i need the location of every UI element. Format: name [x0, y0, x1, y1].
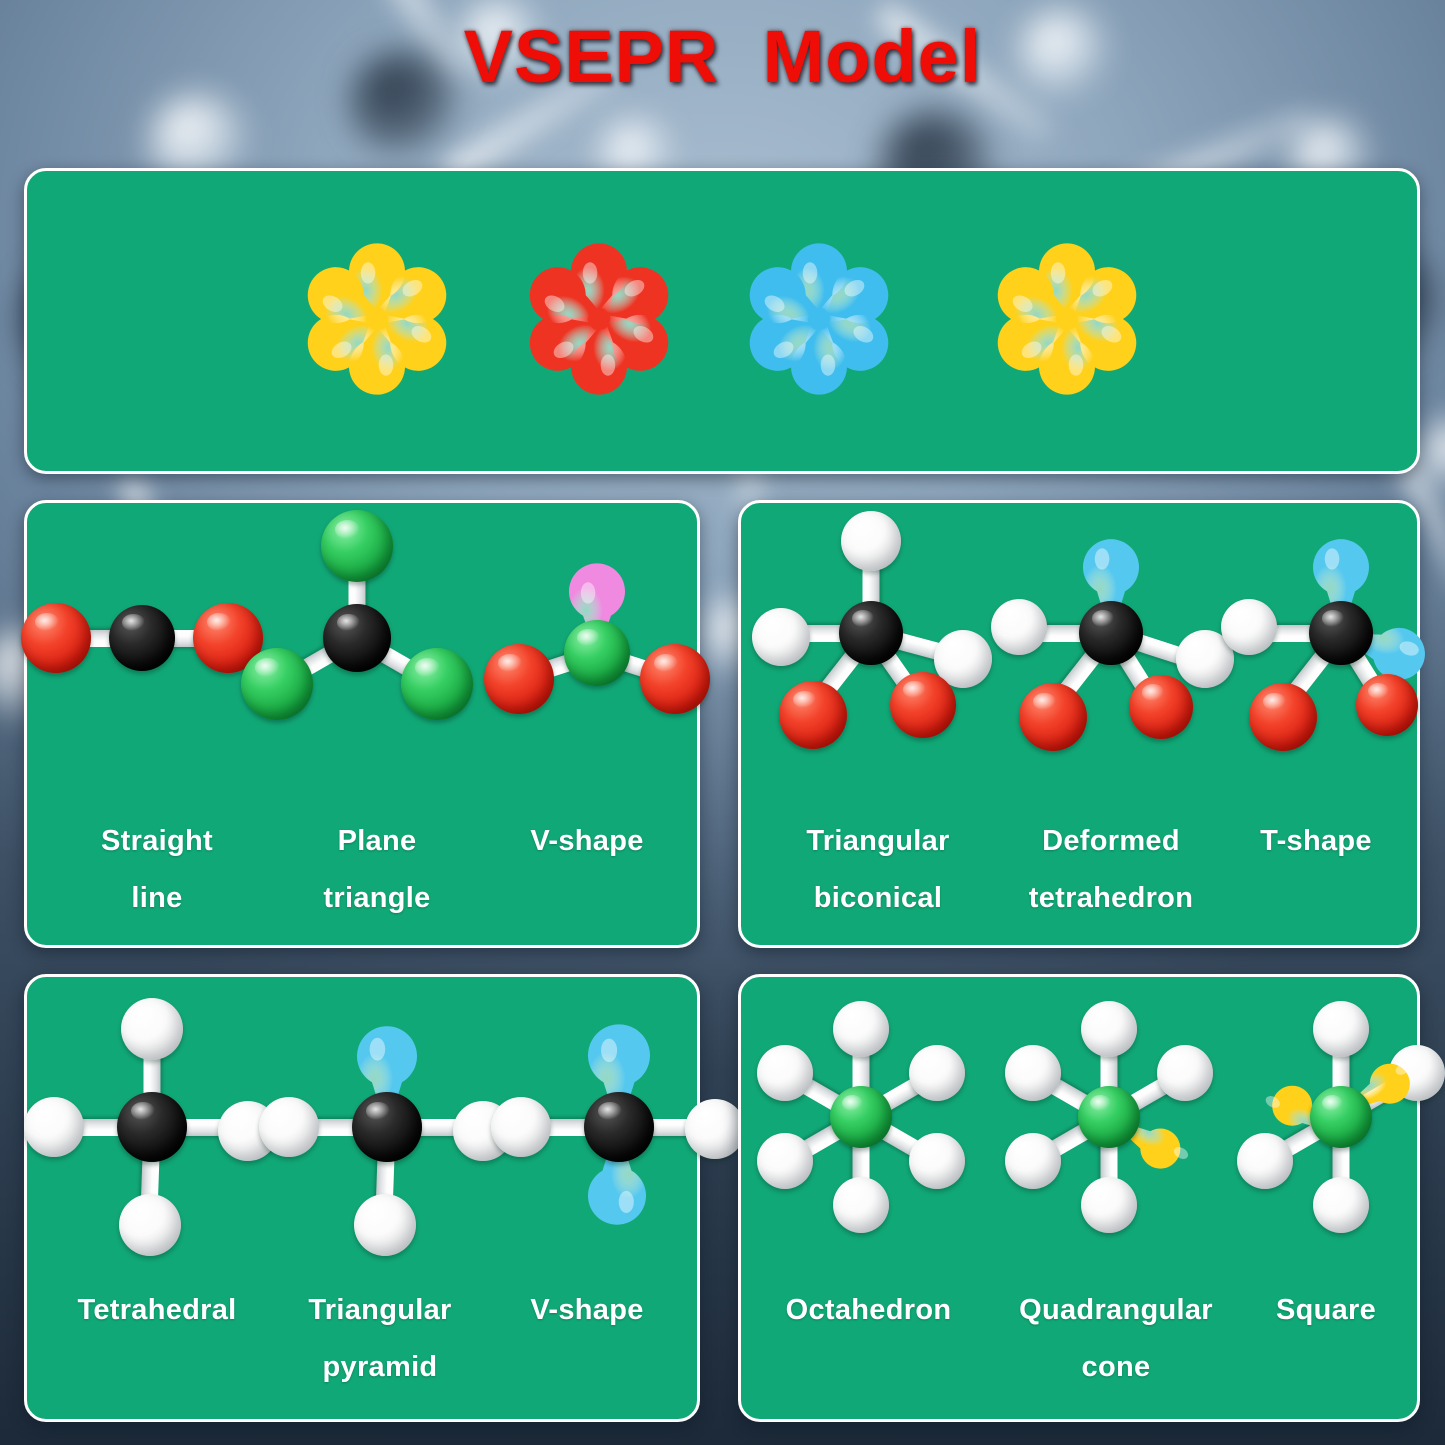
caption-line-2: biconical	[753, 870, 1003, 927]
atom-red	[640, 644, 710, 714]
caption-square: Square	[1241, 1282, 1411, 1339]
atom-white	[757, 1045, 813, 1101]
caption-line-1: V-shape	[487, 813, 687, 870]
caption-line-2: tetrahedron	[976, 870, 1246, 927]
atom-red	[890, 672, 956, 738]
caption-line-1: Triangular	[753, 813, 1003, 870]
caption-line-2: cone	[981, 1339, 1251, 1396]
atom-black-center	[109, 605, 175, 671]
caption-triangular-biconical: Triangular biconical	[753, 813, 1003, 926]
atom-red	[1249, 683, 1317, 751]
caption-tetrahedral: Tetrahedral	[37, 1282, 277, 1339]
caption-line-2: pyramid	[265, 1339, 495, 1396]
caption-line-2: line	[47, 870, 267, 927]
atom-white	[119, 1194, 181, 1256]
atom-green-center	[1078, 1086, 1140, 1148]
atom-white	[991, 599, 1047, 655]
caption-octahedron: Octahedron	[741, 1282, 996, 1339]
atom-white	[909, 1133, 965, 1189]
caption-line-1: Octahedron	[741, 1282, 996, 1339]
caption-line-1: V-shape	[487, 1282, 687, 1339]
atom-white	[24, 1097, 84, 1157]
panel-six-domain-shapes: Octahedron Quadrangular cone Square	[738, 974, 1420, 1422]
atom-white	[491, 1097, 551, 1157]
atom-white	[1313, 1177, 1369, 1233]
atom-black-center	[584, 1092, 654, 1162]
atom-white	[685, 1099, 745, 1159]
atom-black-center	[1079, 601, 1143, 665]
caption-line-1: Triangular	[265, 1282, 495, 1339]
atom-white	[1081, 1177, 1137, 1233]
caption-line-1: Quadrangular	[981, 1282, 1251, 1339]
atom-white	[909, 1045, 965, 1101]
atom-white	[1005, 1133, 1061, 1189]
panel-four-domain-shapes: Tetrahedral Triangular pyramid V-shape	[24, 974, 700, 1422]
atom-green-center	[830, 1086, 892, 1148]
atom-red	[484, 644, 554, 714]
atom-white	[1313, 1001, 1369, 1057]
atom-white	[841, 511, 901, 571]
atom-white	[1005, 1045, 1061, 1101]
caption-v-shape: V-shape	[487, 813, 687, 870]
atom-red	[21, 603, 91, 673]
caption-triangular-pyramid: Triangular pyramid	[265, 1282, 495, 1395]
atom-red	[1019, 683, 1087, 751]
atom-black-center	[1309, 601, 1373, 665]
panel-five-domain-shapes: Triangular biconical Deformed tetrahedro…	[738, 500, 1420, 948]
atom-white	[1237, 1133, 1293, 1189]
caption-straight-line: Straight line	[47, 813, 267, 926]
caption-plane-triangle: Plane triangle	[262, 813, 492, 926]
atom-red	[779, 681, 847, 749]
atom-black-center	[117, 1092, 187, 1162]
page-title: VSEPR Model	[0, 14, 1445, 99]
caption-v-shape: V-shape	[487, 1282, 687, 1339]
atom-green-center	[1310, 1086, 1372, 1148]
caption-line-1: T-shape	[1221, 813, 1411, 870]
caption-line-1: Deformed	[976, 813, 1246, 870]
atom-black-center	[839, 601, 903, 665]
caption-line-1: Square	[1241, 1282, 1411, 1339]
atom-green	[321, 510, 393, 582]
panel-lone-pair-sets	[24, 168, 1420, 474]
caption-quadrangular-cone: Quadrangular cone	[981, 1282, 1251, 1395]
atom-green	[401, 648, 473, 720]
atom-black-center	[352, 1092, 422, 1162]
atom-white	[1157, 1045, 1213, 1101]
caption-line-1: Straight	[47, 813, 267, 870]
atom-white	[1221, 599, 1277, 655]
caption-line-1: Tetrahedral	[37, 1282, 277, 1339]
atom-white	[354, 1194, 416, 1256]
atom-white	[833, 1177, 889, 1233]
atom-white	[757, 1133, 813, 1189]
caption-t-shape: T-shape	[1221, 813, 1411, 870]
atom-white	[1081, 1001, 1137, 1057]
atom-red	[1356, 674, 1418, 736]
atom-green	[241, 648, 313, 720]
panel-two-and-three-domain-shapes: Straight line Plane triangle V-shape	[24, 500, 700, 948]
atom-white	[833, 1001, 889, 1057]
atom-red	[1129, 675, 1193, 739]
atom-white	[752, 608, 810, 666]
atom-white	[259, 1097, 319, 1157]
caption-line-2: triangle	[262, 870, 492, 927]
caption-deformed-tetrahedron: Deformed tetrahedron	[976, 813, 1246, 926]
atom-white	[121, 998, 183, 1060]
caption-line-1: Plane	[262, 813, 492, 870]
atom-green-center	[564, 620, 630, 686]
atom-black-center	[323, 604, 391, 672]
